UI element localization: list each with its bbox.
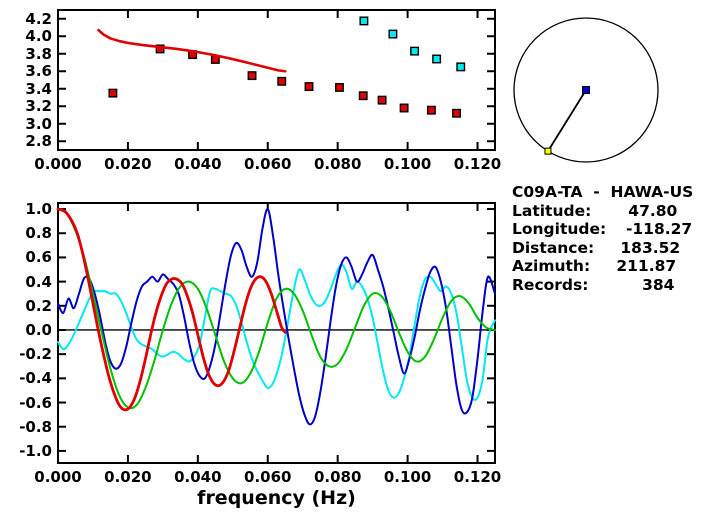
metadata-label: Latitude:: [512, 202, 591, 220]
metadata-label: Longitude:: [512, 220, 606, 238]
metadata-longitude: Longitude:-118.27: [512, 220, 692, 238]
station-marker: [583, 87, 590, 94]
metadata-value: -118.27: [606, 220, 692, 238]
metadata-records: Records:384: [512, 276, 674, 294]
metadata-distance: Distance:183.52: [512, 239, 680, 257]
metadata-value: 47.80: [591, 202, 677, 220]
metadata-value: 183.52: [594, 239, 680, 257]
great-circle-path-line: [548, 90, 586, 151]
station-pair-title: C09A-TA - HAWA-US: [512, 183, 693, 201]
metadata-latitude: Latitude:47.80: [512, 202, 677, 220]
metadata-value: 384: [588, 276, 674, 294]
metadata-label: Azimuth:: [512, 257, 590, 275]
metadata-value: 211.87: [590, 257, 676, 275]
metadata-azimuth: Azimuth:211.87: [512, 257, 676, 275]
metadata-label: Records:: [512, 276, 588, 294]
event-marker: [545, 148, 551, 154]
metadata-label: Distance:: [512, 239, 594, 257]
